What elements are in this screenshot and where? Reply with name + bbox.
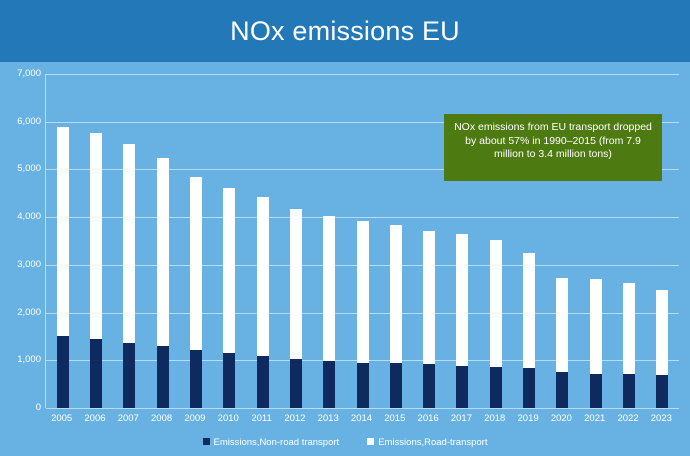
bar-segment-road-transport[interactable] <box>90 133 102 339</box>
y-axis-tick-label: 7,000 <box>1 69 41 79</box>
legend-item-label: Emissions,Road-transport <box>378 436 487 450</box>
bar-segment-road-transport[interactable] <box>590 279 602 373</box>
chart-page: NOx emissions EU 7,0006,0005,0004,0003,0… <box>0 0 690 456</box>
bar-segment-non-road-transport[interactable] <box>90 339 102 408</box>
bar-segment-non-road-transport[interactable] <box>190 350 202 408</box>
bar-segment-non-road-transport[interactable] <box>556 372 568 408</box>
bar-group[interactable] <box>323 216 335 408</box>
bar-group[interactable] <box>390 225 402 408</box>
y-axis-tick-label: 0 <box>1 403 41 413</box>
page-title: NOx emissions EU <box>0 0 690 62</box>
y-axis-tick-label: 5,000 <box>1 164 41 174</box>
bar-segment-non-road-transport[interactable] <box>357 363 369 408</box>
bar-group[interactable] <box>523 253 535 408</box>
bar-segment-road-transport[interactable] <box>323 216 335 361</box>
y-axis-tick-label: 2,000 <box>1 308 41 318</box>
bar-segment-road-transport[interactable] <box>656 290 668 374</box>
bar-segment-non-road-transport[interactable] <box>123 343 135 408</box>
bar-segment-non-road-transport[interactable] <box>223 353 235 408</box>
bar-segment-non-road-transport[interactable] <box>490 367 502 409</box>
bar-group[interactable] <box>456 234 468 408</box>
bar-segment-road-transport[interactable] <box>257 197 269 356</box>
bar-segment-road-transport[interactable] <box>423 231 435 365</box>
bar-segment-non-road-transport[interactable] <box>423 364 435 408</box>
bar-group[interactable] <box>656 290 668 408</box>
bar-segment-non-road-transport[interactable] <box>390 363 402 408</box>
bar-segment-non-road-transport[interactable] <box>157 346 169 408</box>
bar-segment-non-road-transport[interactable] <box>290 359 302 408</box>
gridline <box>46 217 679 218</box>
bar-group[interactable] <box>57 127 69 409</box>
bar-group[interactable] <box>623 283 635 408</box>
bar-segment-road-transport[interactable] <box>290 209 302 359</box>
bar-segment-road-transport[interactable] <box>390 225 402 363</box>
bar-group[interactable] <box>190 177 202 408</box>
x-axis: 2005200620072008200920102011201220132014… <box>45 412 678 428</box>
bar-group[interactable] <box>423 231 435 408</box>
y-axis-tick-label: 4,000 <box>1 212 41 222</box>
bar-segment-non-road-transport[interactable] <box>57 336 69 408</box>
bar-segment-non-road-transport[interactable] <box>323 361 335 408</box>
chart-legend: Emissions,Non-road transportEmissions,Ro… <box>0 434 690 450</box>
bar-segment-road-transport[interactable] <box>490 240 502 366</box>
bar-segment-non-road-transport[interactable] <box>523 368 535 408</box>
bar-group[interactable] <box>490 240 502 408</box>
y-axis-tick-label: 3,000 <box>1 260 41 270</box>
bar-segment-road-transport[interactable] <box>357 221 369 363</box>
bar-segment-non-road-transport[interactable] <box>257 356 269 408</box>
legend-item[interactable]: Emissions,Road-transport <box>367 436 487 450</box>
bar-segment-non-road-transport[interactable] <box>623 374 635 408</box>
bar-segment-road-transport[interactable] <box>123 144 135 343</box>
bar-group[interactable] <box>90 133 102 408</box>
bar-group[interactable] <box>257 197 269 408</box>
bar-group[interactable] <box>590 279 602 408</box>
bar-segment-non-road-transport[interactable] <box>656 375 668 408</box>
gridline <box>46 74 679 75</box>
bar-segment-road-transport[interactable] <box>190 177 202 350</box>
bar-segment-road-transport[interactable] <box>223 188 235 353</box>
legend-swatch-icon <box>367 438 374 445</box>
bar-segment-road-transport[interactable] <box>623 283 635 375</box>
bar-segment-road-transport[interactable] <box>456 234 468 366</box>
bar-group[interactable] <box>157 158 169 408</box>
bar-segment-non-road-transport[interactable] <box>590 374 602 408</box>
bar-segment-non-road-transport[interactable] <box>456 366 468 408</box>
title-bar: NOx emissions EU <box>0 0 690 62</box>
y-axis-tick-label: 6,000 <box>1 117 41 127</box>
y-axis-tick-label: 1,000 <box>1 355 41 365</box>
legend-item[interactable]: Emissions,Non-road transport <box>203 436 340 450</box>
legend-swatch-icon <box>203 438 210 445</box>
y-axis: 7,0006,0005,0004,0003,0002,0001,0000 <box>0 74 41 408</box>
annotation-callout: NOx emissions from EU transport dropped … <box>444 114 662 181</box>
x-axis-tick-label: 2023 <box>641 412 681 426</box>
bar-segment-road-transport[interactable] <box>556 278 568 372</box>
bar-group[interactable] <box>123 144 135 408</box>
gridline <box>46 408 679 409</box>
bar-group[interactable] <box>556 278 568 408</box>
bar-group[interactable] <box>223 188 235 408</box>
bar-segment-road-transport[interactable] <box>157 158 169 346</box>
bar-segment-road-transport[interactable] <box>57 127 69 336</box>
legend-item-label: Emissions,Non-road transport <box>214 436 340 450</box>
bar-group[interactable] <box>357 221 369 408</box>
bar-segment-road-transport[interactable] <box>523 253 535 368</box>
bar-group[interactable] <box>290 209 302 408</box>
